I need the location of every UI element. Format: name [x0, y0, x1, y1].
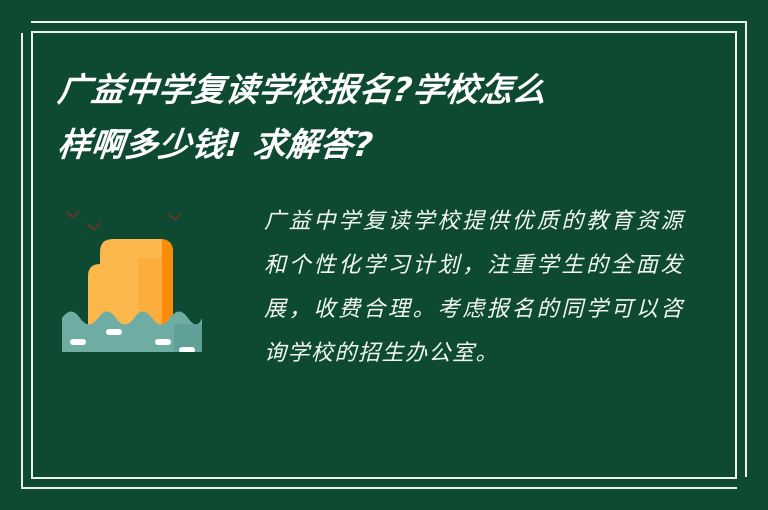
content-row: 广益中学复读学校提供优质的教育资源和个性化学习计划，注重学生的全面发展，收费合理…: [62, 200, 710, 376]
foam-dash: [179, 347, 195, 352]
page-title-line-2: 样啊多少钱! 求解答?: [55, 117, 681, 172]
frame-corner-mask-bottom-right: [737, 477, 768, 510]
foam-dash: [70, 339, 86, 345]
page-title: 广益中学复读学校报名?学校怎么 样啊多少钱! 求解答?: [58, 62, 678, 172]
body-paragraph: 广益中学复读学校提供优质的教育资源和个性化学习计划，注重学生的全面发展，收费合理…: [264, 200, 684, 376]
sunset-over-water-illustration: [62, 200, 202, 352]
frame-corner-mask-top-left: [0, 0, 31, 33]
foam-dash: [155, 339, 171, 345]
foam-dash: [106, 329, 122, 335]
page-title-line-1: 广益中学复读学校报名?学校怎么: [55, 62, 681, 117]
sun-block: [88, 239, 173, 326]
